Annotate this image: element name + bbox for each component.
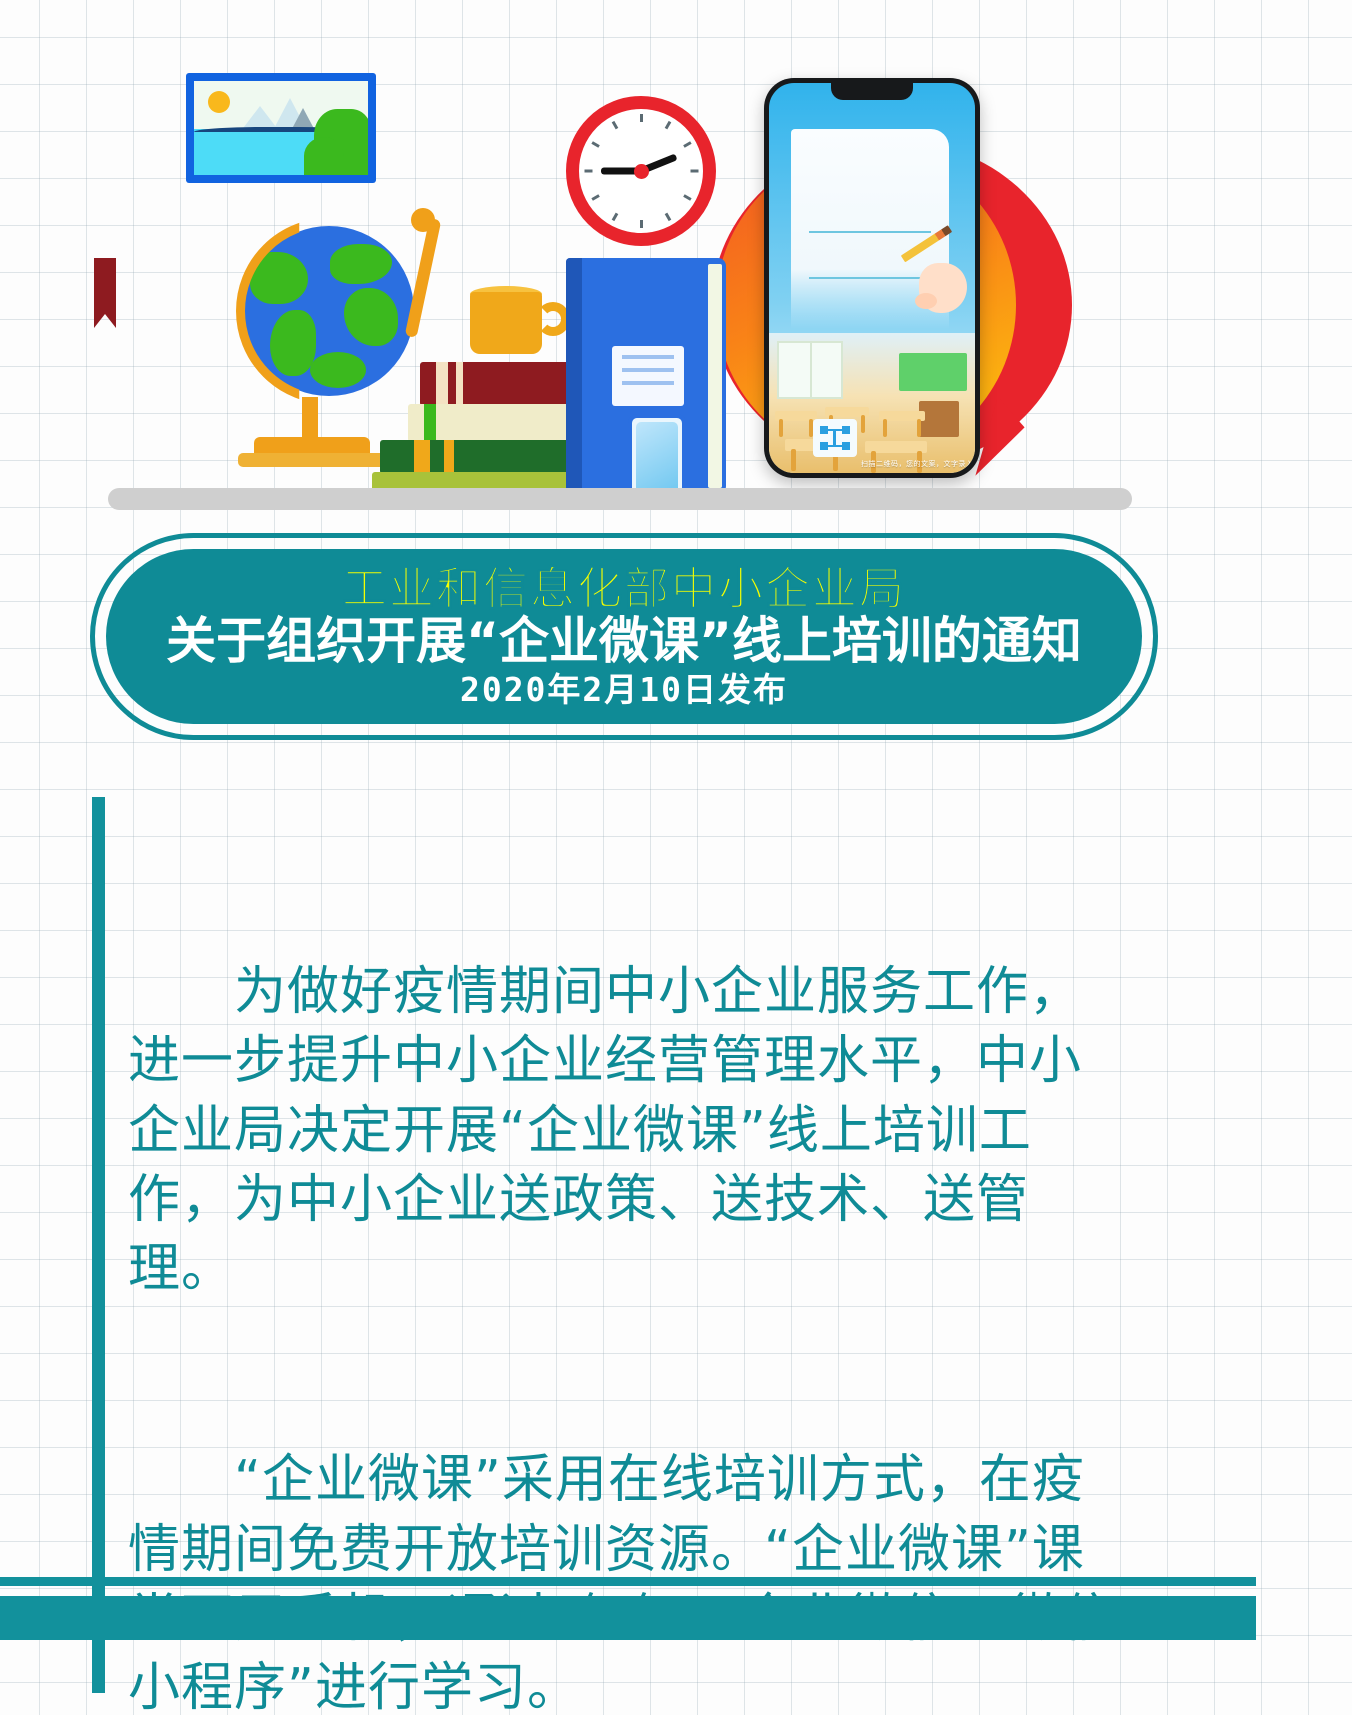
desk-leg bbox=[861, 415, 865, 433]
qr-code-badge bbox=[813, 419, 857, 457]
book-stripe bbox=[436, 362, 448, 406]
small-phone-screen bbox=[636, 422, 678, 494]
podium-icon bbox=[919, 401, 959, 437]
classroom-scene: 扫描二维码，您的文案，文字录入 bbox=[769, 333, 975, 473]
footer-rule-thick bbox=[0, 1596, 1256, 1640]
bush-icon bbox=[304, 137, 344, 175]
clock-tick bbox=[591, 141, 599, 148]
hand-thumb bbox=[915, 293, 937, 309]
clock-tick bbox=[591, 194, 599, 201]
chalkboard-icon bbox=[899, 353, 967, 391]
book-stripe bbox=[414, 440, 430, 474]
clock-tick bbox=[664, 213, 671, 221]
globe-arm bbox=[405, 218, 442, 338]
bookmark-ribbon bbox=[94, 258, 116, 314]
hero-illustration: 扫描二维码，您的文案，文字录入 bbox=[0, 0, 1352, 530]
poster-root: 扫描二维码，您的文案，文字录入 工业和信息化部中小企业局 关于组织开展“企业微课… bbox=[0, 0, 1352, 1715]
book-stripe bbox=[456, 362, 463, 406]
qr-code-icon bbox=[820, 426, 850, 450]
banner-publish-date: 2020年2月10日发布 bbox=[460, 672, 788, 708]
book-stripe bbox=[444, 440, 454, 474]
clock-tick bbox=[640, 220, 643, 228]
clock-tick bbox=[683, 194, 691, 201]
clock-tick bbox=[611, 213, 618, 221]
clock-tick bbox=[584, 170, 592, 173]
notebook-spine bbox=[566, 258, 582, 494]
banner-title-line1: 工业和信息化部中小企业局 bbox=[342, 565, 906, 613]
clock-tick bbox=[640, 114, 643, 122]
coffee-mug bbox=[470, 292, 542, 354]
globe-foot bbox=[238, 453, 386, 467]
clock-tick bbox=[611, 121, 618, 129]
phone-notch bbox=[831, 83, 913, 100]
shelf bbox=[108, 488, 1132, 510]
clock-tick bbox=[683, 141, 691, 148]
qr-caption: 扫描二维码，您的文案，文字录入 bbox=[861, 459, 973, 469]
notebook-label bbox=[612, 346, 684, 406]
clock-tick bbox=[690, 170, 698, 173]
phone-screen: 扫描二维码，您的文案，文字录入 bbox=[769, 83, 975, 473]
landscape-picture-frame bbox=[186, 73, 376, 183]
hand-writing-icon bbox=[905, 249, 967, 319]
desk-leg bbox=[779, 419, 783, 437]
globe-land bbox=[344, 288, 398, 346]
desk-leg bbox=[791, 449, 796, 471]
sun-icon bbox=[208, 91, 230, 113]
mug-handle bbox=[536, 302, 570, 336]
book-stripe bbox=[424, 404, 436, 442]
left-accent-rule bbox=[92, 797, 105, 1549]
smartphone: 扫描二维码，您的文案，文字录入 bbox=[764, 78, 980, 478]
banner-title-line2: 关于组织开展“企业微课”线上培训的通知 bbox=[166, 614, 1082, 668]
globe-stem bbox=[302, 397, 318, 437]
paper-line bbox=[809, 231, 931, 233]
globe-knob bbox=[411, 208, 435, 232]
globe-land bbox=[330, 244, 392, 284]
clock-center-pin bbox=[634, 164, 649, 179]
wall-clock bbox=[566, 96, 716, 246]
landscape-picture-inner bbox=[194, 81, 368, 175]
body-paragraph: 为做好疫情期间中小企业服务工作，进一步提升中小企业经营管理水平，中小企业局决定开… bbox=[128, 958, 1118, 1304]
title-banner: 工业和信息化部中小企业局 关于组织开展“企业微课”线上培训的通知 2020年2月… bbox=[106, 549, 1142, 724]
window-icon bbox=[777, 341, 843, 399]
desk-leg bbox=[883, 419, 887, 437]
footer-rule-thin bbox=[0, 1577, 1256, 1586]
desk-leg bbox=[917, 419, 921, 437]
clock-tick bbox=[664, 121, 671, 129]
globe-land bbox=[310, 352, 366, 388]
notebook-page-edge bbox=[708, 264, 722, 488]
